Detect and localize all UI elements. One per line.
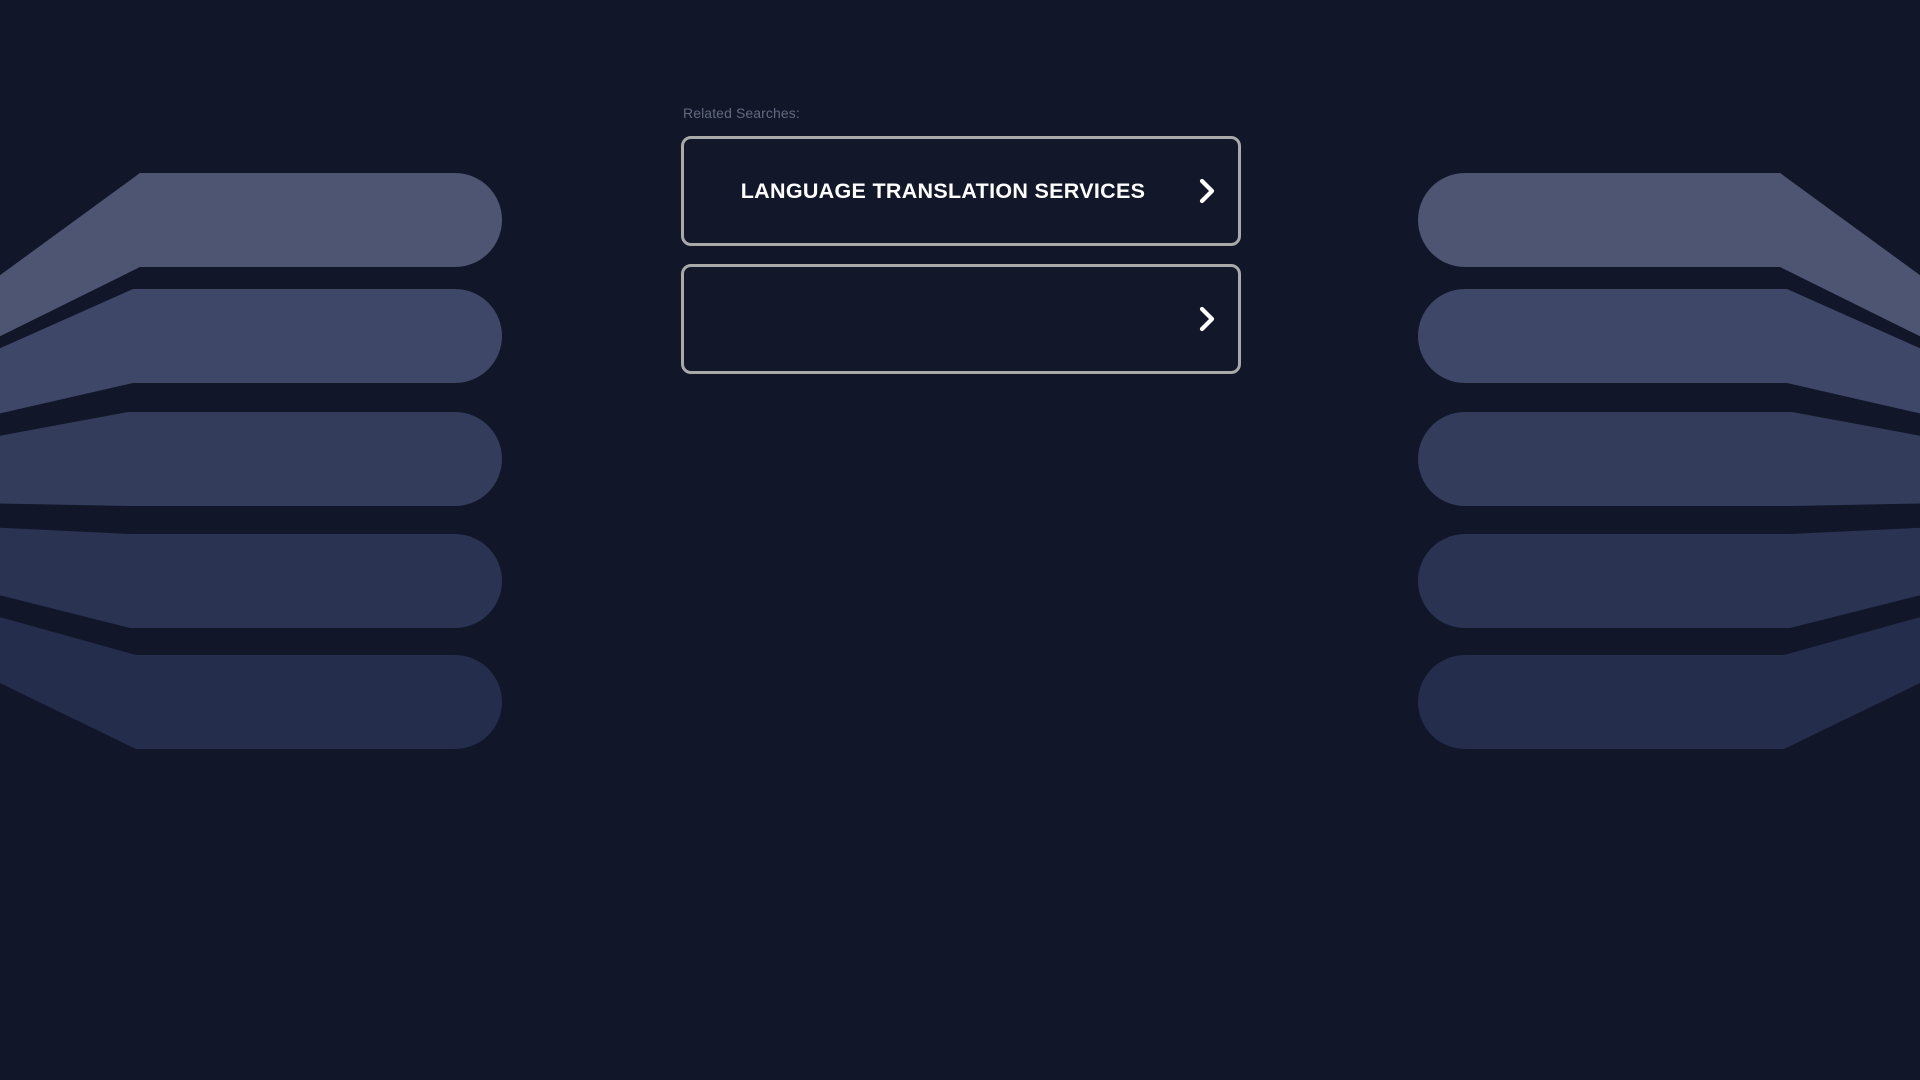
- related-search-title: LANGUAGE TRANSLATION SERVICES: [712, 179, 1180, 203]
- related-search-card[interactable]: [681, 264, 1241, 374]
- related-search-title: [712, 319, 1180, 320]
- left-decoration: [0, 0, 640, 1080]
- chevron-right-icon: [1196, 305, 1218, 333]
- right-converging-bars-icon: [1280, 0, 1920, 1080]
- page-root: Related Searches: LANGUAGE TRANSLATION S…: [0, 0, 1920, 1080]
- left-converging-bars-icon: [0, 0, 640, 1080]
- related-search-card[interactable]: LANGUAGE TRANSLATION SERVICES: [681, 136, 1241, 246]
- related-searches-label: Related Searches:: [681, 104, 1241, 122]
- chevron-right-icon: [1196, 177, 1218, 205]
- right-decoration: [1280, 0, 1920, 1080]
- related-searches-panel: Related Searches: LANGUAGE TRANSLATION S…: [681, 104, 1241, 392]
